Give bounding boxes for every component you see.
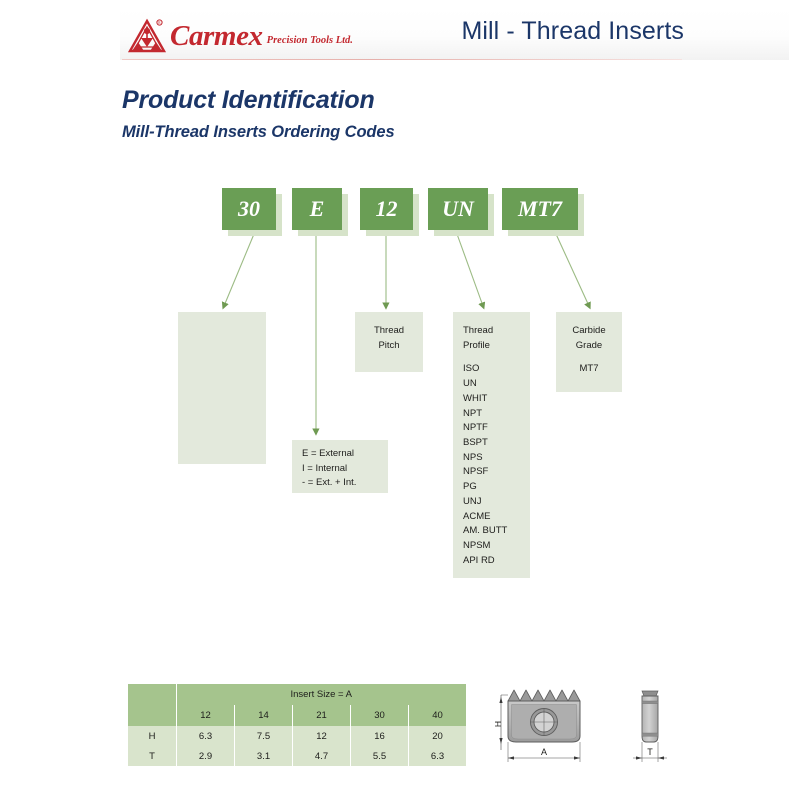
carbide-grade-option: MT7 (556, 362, 622, 377)
carbide-grade-heading: Carbide (556, 324, 622, 339)
table-cell: 12 (293, 726, 351, 746)
legend-box-carbide-grade[interactable]: Carbide Grade MT7 (556, 312, 622, 392)
connector-arrows (0, 0, 789, 789)
page-header-title: Mill - Thread Inserts (461, 17, 684, 46)
legend-box-insert-size[interactable] (178, 312, 266, 464)
table-cell: 7.5 (235, 726, 293, 746)
table-header-row-sizes: 12 14 21 30 40 (128, 705, 466, 726)
code-box-profile[interactable]: UN (428, 188, 488, 230)
table-cell: 2.9 (177, 746, 235, 766)
thread-profile-option: NPT (463, 407, 530, 422)
carbide-grade-heading-2: Grade (556, 339, 622, 354)
dimension-a-label-front: A (541, 747, 547, 757)
thread-profile-option: NPSM (463, 539, 530, 554)
dimension-h-label: H (493, 721, 503, 727)
thread-profile-option: NPSF (463, 465, 530, 480)
table-row-label: T (128, 746, 177, 766)
table-row-label: H (128, 726, 177, 746)
thread-profile-option: ISO (463, 362, 530, 377)
thread-profile-option: API RD (463, 554, 530, 569)
code-box-grade[interactable]: MT7 (502, 188, 578, 230)
table-header-row-title: Insert Size = A (128, 684, 466, 705)
dimension-t-label: T (647, 747, 653, 757)
code-box-direction[interactable]: E (292, 188, 342, 230)
table-row: H 6.3 7.5 12 16 20 (128, 726, 466, 746)
carmex-triangle-logo-icon: R (128, 18, 166, 54)
thread-profile-option: NPTF (463, 421, 530, 436)
insert-front-view-drawing: H A (492, 684, 612, 770)
connector-profile (457, 234, 483, 306)
table-size-header: 12 (177, 705, 235, 726)
brand-tagline: Precision Tools Ltd. (267, 35, 353, 46)
brand-name: Carmex (170, 22, 263, 51)
table-cell: 16 (351, 726, 409, 746)
table-cell: 5.5 (351, 746, 409, 766)
table-cell: 6.3 (409, 746, 467, 766)
thread-profile-option: UN (463, 377, 530, 392)
thread-profile-heading-2: Profile (463, 339, 530, 354)
code-box-pitch[interactable]: 12 (360, 188, 413, 230)
table-size-header: 21 (293, 705, 351, 726)
page-subtitle: Mill-Thread Inserts Ordering Codes (122, 123, 395, 142)
header-divider-rule (122, 59, 682, 60)
legend-box-thread-profile[interactable]: Thread Profile ISO UN WHIT NPT NPTF BSPT… (453, 312, 530, 578)
thread-profile-option: WHIT (463, 392, 530, 407)
insert-side-view-drawing: T (625, 684, 685, 770)
legend-box-thread-pitch[interactable]: Thread Pitch (355, 312, 423, 372)
code-box-size[interactable]: 30 (222, 188, 276, 230)
table-corner-cell-2 (128, 705, 177, 726)
thread-pitch-heading: Thread (355, 324, 423, 339)
direction-option: E = External (302, 447, 388, 462)
table-size-header: 14 (235, 705, 293, 726)
legend-box-direction[interactable]: E = External I = Internal - = Ext. + Int… (292, 440, 388, 493)
table-cell: 20 (409, 726, 467, 746)
thread-profile-heading: Thread (463, 324, 530, 339)
thread-pitch-heading-2: Pitch (355, 339, 423, 354)
table-cell: 4.7 (293, 746, 351, 766)
table-cell: 6.3 (177, 726, 235, 746)
page-title: Product Identification (122, 86, 375, 115)
table-cell: 3.1 (235, 746, 293, 766)
table-corner-cell (128, 684, 177, 705)
thread-profile-option: AM. BUTT (463, 524, 530, 539)
carmex-logo: R Carmex Precision Tools Ltd. (128, 16, 353, 56)
logo-svg: R (128, 18, 166, 54)
direction-option: I = Internal (302, 462, 388, 477)
table-row: T 2.9 3.1 4.7 5.5 6.3 (128, 746, 466, 766)
connector-grade (556, 234, 589, 306)
direction-option: - = Ext. + Int. (302, 476, 388, 491)
insert-dimension-table: Insert Size = A 12 14 21 30 40 H 6.3 7.5… (128, 684, 467, 766)
page-header: R Carmex Precision Tools Ltd. Mill - Thr… (0, 0, 789, 68)
thread-profile-option: UNJ (463, 495, 530, 510)
thread-profile-option: ACME (463, 510, 530, 525)
thread-profile-option: BSPT (463, 436, 530, 451)
table-title-cell: Insert Size = A (177, 684, 467, 705)
table-size-header: 30 (351, 705, 409, 726)
connector-size (224, 234, 254, 306)
table-size-header: 40 (409, 705, 467, 726)
thread-profile-option: PG (463, 480, 530, 495)
thread-profile-option: NPS (463, 451, 530, 466)
